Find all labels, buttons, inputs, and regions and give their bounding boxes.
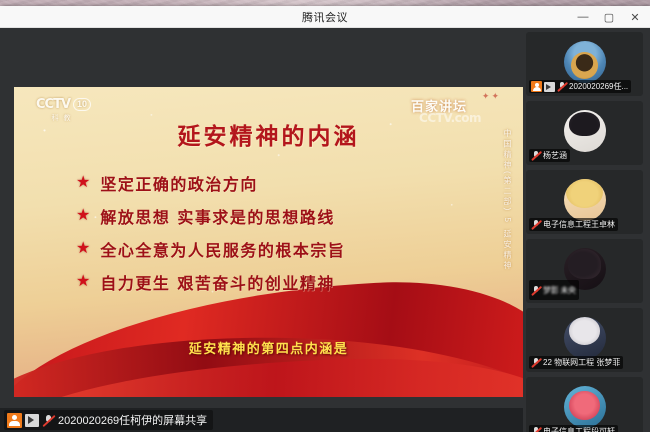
share-status-text: 2020020269任柯伊的屏幕共享 [58, 412, 207, 428]
participant-name-badge: 杨艺涵 [529, 149, 570, 162]
minimize-button[interactable]: — [570, 6, 596, 28]
participant-tile[interactable]: 2020020269任... [526, 32, 643, 96]
mic-muted-icon [557, 81, 567, 92]
bullet-item: ★ 坚定正确的政治方向 [76, 171, 483, 195]
bullet-text: 自力更生 艰苦奋斗的创业精神 [100, 270, 335, 294]
share-status-bar: 2020020269任柯伊的屏幕共享 [0, 408, 523, 432]
series-vertical-caption: 中国精神(第二部) 5 延安精神 [503, 129, 511, 319]
bullet-item: ★ 自力更生 艰苦奋斗的创业精神 [76, 270, 483, 294]
participant-name: 电子信息工程王卓林 [543, 219, 615, 230]
participant-name-badge: 电子信息工程段可轩 [529, 425, 618, 432]
slide-subtitle-caption: 延安精神的第四点内涵是 [14, 338, 523, 357]
participant-name: 电子信息工程段可轩 [543, 426, 615, 432]
host-icon [531, 81, 542, 92]
mic-muted-icon [531, 426, 541, 432]
close-button[interactable]: ✕ [622, 6, 648, 28]
participant-name: 22 物联网工程 张梦菲 [543, 357, 620, 368]
bullet-text: 解放思想 实事求是的思想路线 [100, 204, 335, 228]
slide-title: 延安精神的内涵 [14, 117, 523, 151]
participant-name: 杨艺涵 [543, 150, 567, 161]
bullet-item: ★ 全心全意为人民服务的根本宗旨 [76, 237, 483, 261]
bird-decoration-icon: ✦✦ [482, 91, 501, 102]
share-status-badge: 2020020269任柯伊的屏幕共享 [4, 410, 213, 430]
participant-tile[interactable]: 杨艺涵 [526, 101, 643, 165]
star-icon: ★ [76, 175, 90, 191]
screen-share-icon [25, 414, 39, 427]
presentation-slide: CCTV 10 科教 ✦✦ 百家讲坛 CCTV.com 中国精神(第二部) 5 … [14, 87, 523, 397]
star-icon: ★ [76, 241, 90, 257]
avatar [564, 179, 606, 221]
mic-muted-icon [531, 150, 541, 161]
participant-tile[interactable]: 梦影 未央 [526, 239, 643, 303]
participant-name: 梦影 未央 [543, 285, 576, 296]
mic-muted-icon [531, 357, 541, 368]
host-icon [7, 413, 22, 428]
mic-muted-icon [42, 413, 55, 427]
bullet-item: ★ 解放思想 实事求是的思想路线 [76, 204, 483, 228]
participant-name-badge: 梦影 未央 [529, 280, 579, 300]
mic-muted-icon [531, 285, 541, 296]
window-titlebar[interactable]: 腾讯会议 — ▢ ✕ [0, 6, 650, 28]
tencent-meeting-window: 腾讯会议 — ▢ ✕ CCTV 10 科教 ✦✦ [0, 6, 650, 432]
participant-tile[interactable]: 22 物联网工程 张梦菲 [526, 308, 643, 372]
participant-name-badge: 电子信息工程王卓林 [529, 218, 618, 231]
participant-name-badge: 2020020269任... [529, 80, 631, 93]
mic-muted-icon [531, 219, 541, 230]
participant-tile[interactable]: 电子信息工程段可轩 [526, 377, 643, 432]
star-icon: ★ [76, 208, 90, 224]
cctv-wordmark: CCTV [36, 97, 70, 112]
bullet-text: 全心全意为人民服务的根本宗旨 [100, 237, 345, 261]
avatar [564, 41, 606, 83]
cctv-channel-number: 10 [73, 98, 91, 111]
star-icon: ★ [76, 274, 90, 290]
bullet-text: 坚定正确的政治方向 [100, 171, 258, 195]
maximize-button[interactable]: ▢ [596, 6, 622, 28]
screen-share-icon [544, 82, 555, 92]
participant-name-badge: 22 物联网工程 张梦菲 [529, 356, 623, 369]
avatar [564, 317, 606, 359]
shared-screen-stage[interactable]: CCTV 10 科教 ✦✦ 百家讲坛 CCTV.com 中国精神(第二部) 5 … [0, 28, 523, 432]
avatar [564, 110, 606, 152]
participant-tile[interactable]: 电子信息工程王卓林 [526, 170, 643, 234]
participant-name: 2020020269任... [569, 81, 628, 92]
window-controls: — ▢ ✕ [570, 6, 648, 28]
avatar [564, 386, 606, 428]
window-title: 腾讯会议 [302, 9, 348, 25]
participants-panel[interactable]: 2020020269任... 杨艺涵 电子信息工程王卓林 [523, 28, 650, 432]
slide-bullet-list: ★ 坚定正确的政治方向 ★ 解放思想 实事求是的思想路线 ★ 全心全意为人民服务… [76, 171, 483, 303]
meeting-body: CCTV 10 科教 ✦✦ 百家讲坛 CCTV.com 中国精神(第二部) 5 … [0, 28, 650, 432]
